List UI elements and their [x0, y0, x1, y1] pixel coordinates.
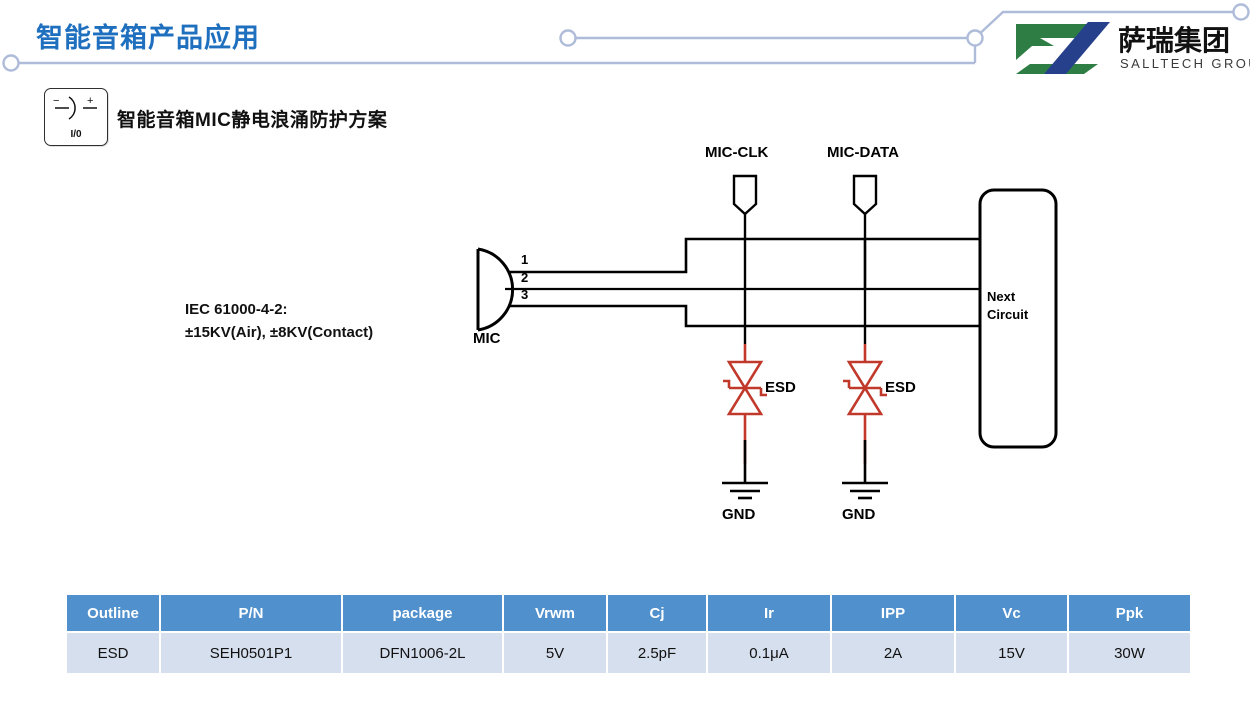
- ground-symbol-2: [842, 440, 888, 498]
- col-cj: Cj: [608, 595, 708, 633]
- net-label-data: MIC-DATA: [827, 144, 899, 161]
- col-ipp: IPP: [832, 595, 956, 633]
- esd-label-1: ESD: [765, 379, 796, 396]
- col-package: package: [343, 595, 504, 633]
- ground-symbol-1: [722, 440, 768, 498]
- table-row: ESD SEH0501P1 DFN1006-2L 5V 2.5pF 0.1μA …: [67, 633, 1190, 673]
- pin-number-1: 1: [521, 252, 528, 267]
- col-ir: Ir: [708, 595, 832, 633]
- table-header-row: Outline P/N package Vrwm Cj Ir IPP Vc Pp…: [67, 595, 1190, 633]
- cell-ir: 0.1μA: [708, 633, 832, 673]
- next-circuit-line2: Circuit: [987, 307, 1028, 322]
- net-label-clk: MIC-CLK: [705, 144, 768, 161]
- cell-vrwm: 5V: [504, 633, 608, 673]
- col-vrwm: Vrwm: [504, 595, 608, 633]
- esd-protection-schematic: [0, 0, 1257, 560]
- mic-label: MIC: [473, 330, 501, 347]
- col-vc: Vc: [956, 595, 1069, 633]
- device-spec-table: Outline P/N package Vrwm Cj Ir IPP Vc Pp…: [67, 595, 1190, 673]
- cell-pn: SEH0501P1: [161, 633, 343, 673]
- cell-vc: 15V: [956, 633, 1069, 673]
- iec-note-line2: ±15KV(Air), ±8KV(Contact): [185, 324, 373, 341]
- esd-label-2: ESD: [885, 379, 916, 396]
- col-pn: P/N: [161, 595, 343, 633]
- cell-cj: 2.5pF: [608, 633, 708, 673]
- gnd-label-2: GND: [842, 506, 875, 523]
- next-circuit-line1: Next: [987, 289, 1015, 304]
- iec-standard-note: IEC 61000-4-2: ±15KV(Air), ±8KV(Contact): [185, 298, 373, 345]
- gnd-label-1: GND: [722, 506, 755, 523]
- cell-ipp: 2A: [832, 633, 956, 673]
- col-outline: Outline: [67, 595, 161, 633]
- testpoint-mic-clk: [734, 176, 756, 239]
- slide-canvas: 智能音箱产品应用 萨瑞集团 SALLTECH GROUP − + I/0 智能音…: [0, 0, 1257, 704]
- cell-outline: ESD: [67, 633, 161, 673]
- iec-note-line1: IEC 61000-4-2:: [185, 301, 288, 318]
- next-circuit-label: Next Circuit: [987, 288, 1028, 323]
- pin-number-3: 3: [521, 287, 528, 302]
- cell-package: DFN1006-2L: [343, 633, 504, 673]
- net-drops: [745, 239, 865, 344]
- pin-number-2: 2: [521, 270, 528, 285]
- col-ppk: Ppk: [1069, 595, 1190, 633]
- cell-ppk: 30W: [1069, 633, 1190, 673]
